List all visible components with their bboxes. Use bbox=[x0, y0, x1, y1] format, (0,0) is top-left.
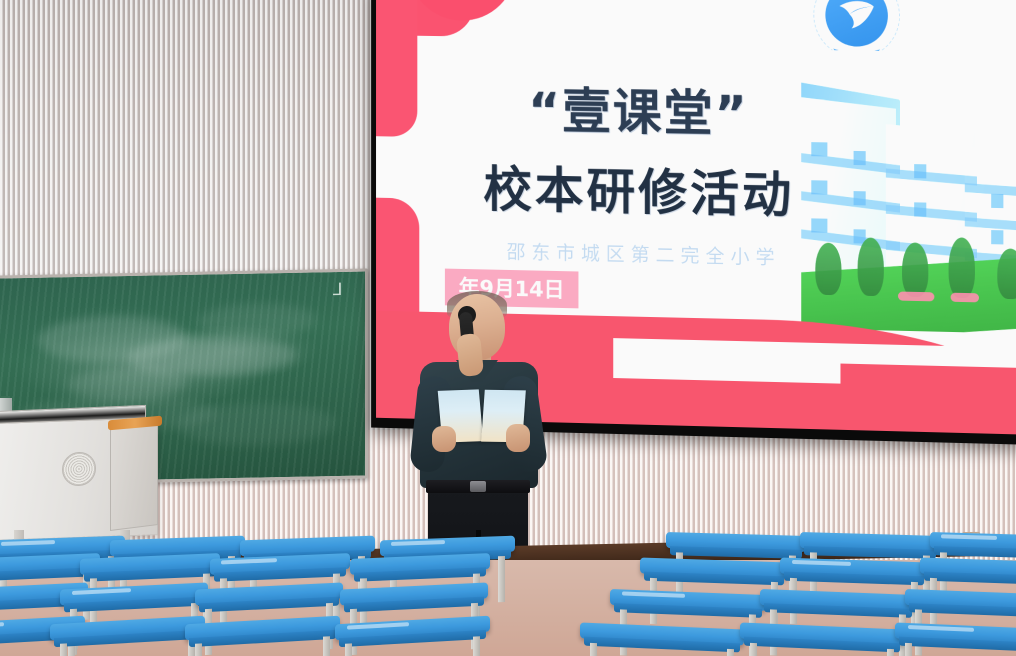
desk-leg bbox=[727, 649, 734, 656]
presenter-hand-on-mic bbox=[456, 333, 484, 377]
desk-leg bbox=[473, 636, 480, 656]
school-emblem-icon bbox=[825, 0, 888, 47]
pink-decoration-bottom-right bbox=[840, 364, 1016, 435]
slide-subtitle: 校本研修活动 bbox=[415, 149, 863, 229]
desk-leg bbox=[498, 556, 505, 602]
podium-side bbox=[110, 421, 158, 531]
desk-leg bbox=[750, 643, 757, 656]
desk-front-edge bbox=[924, 572, 1016, 586]
desk-leg bbox=[887, 649, 894, 656]
slide-school-name: 邵东市城区第二完全小学 bbox=[425, 235, 863, 271]
desk-leg bbox=[60, 643, 67, 656]
desk-leg bbox=[323, 636, 330, 656]
desk-leg bbox=[590, 643, 597, 656]
presenter-right-hand bbox=[506, 424, 530, 452]
pink-decoration-left-bar bbox=[376, 0, 417, 137]
presenter-left-hand bbox=[432, 426, 456, 452]
classroom-presentation-scene: ⅃ bbox=[0, 0, 1016, 656]
chalkboard-brand-icon: ⅃ bbox=[333, 282, 349, 308]
desk-leg bbox=[195, 643, 202, 656]
desk-leg bbox=[345, 643, 352, 656]
slide-title: “壹课堂” bbox=[430, 70, 848, 148]
student-desk bbox=[895, 622, 1016, 656]
desk-leg bbox=[905, 643, 912, 656]
